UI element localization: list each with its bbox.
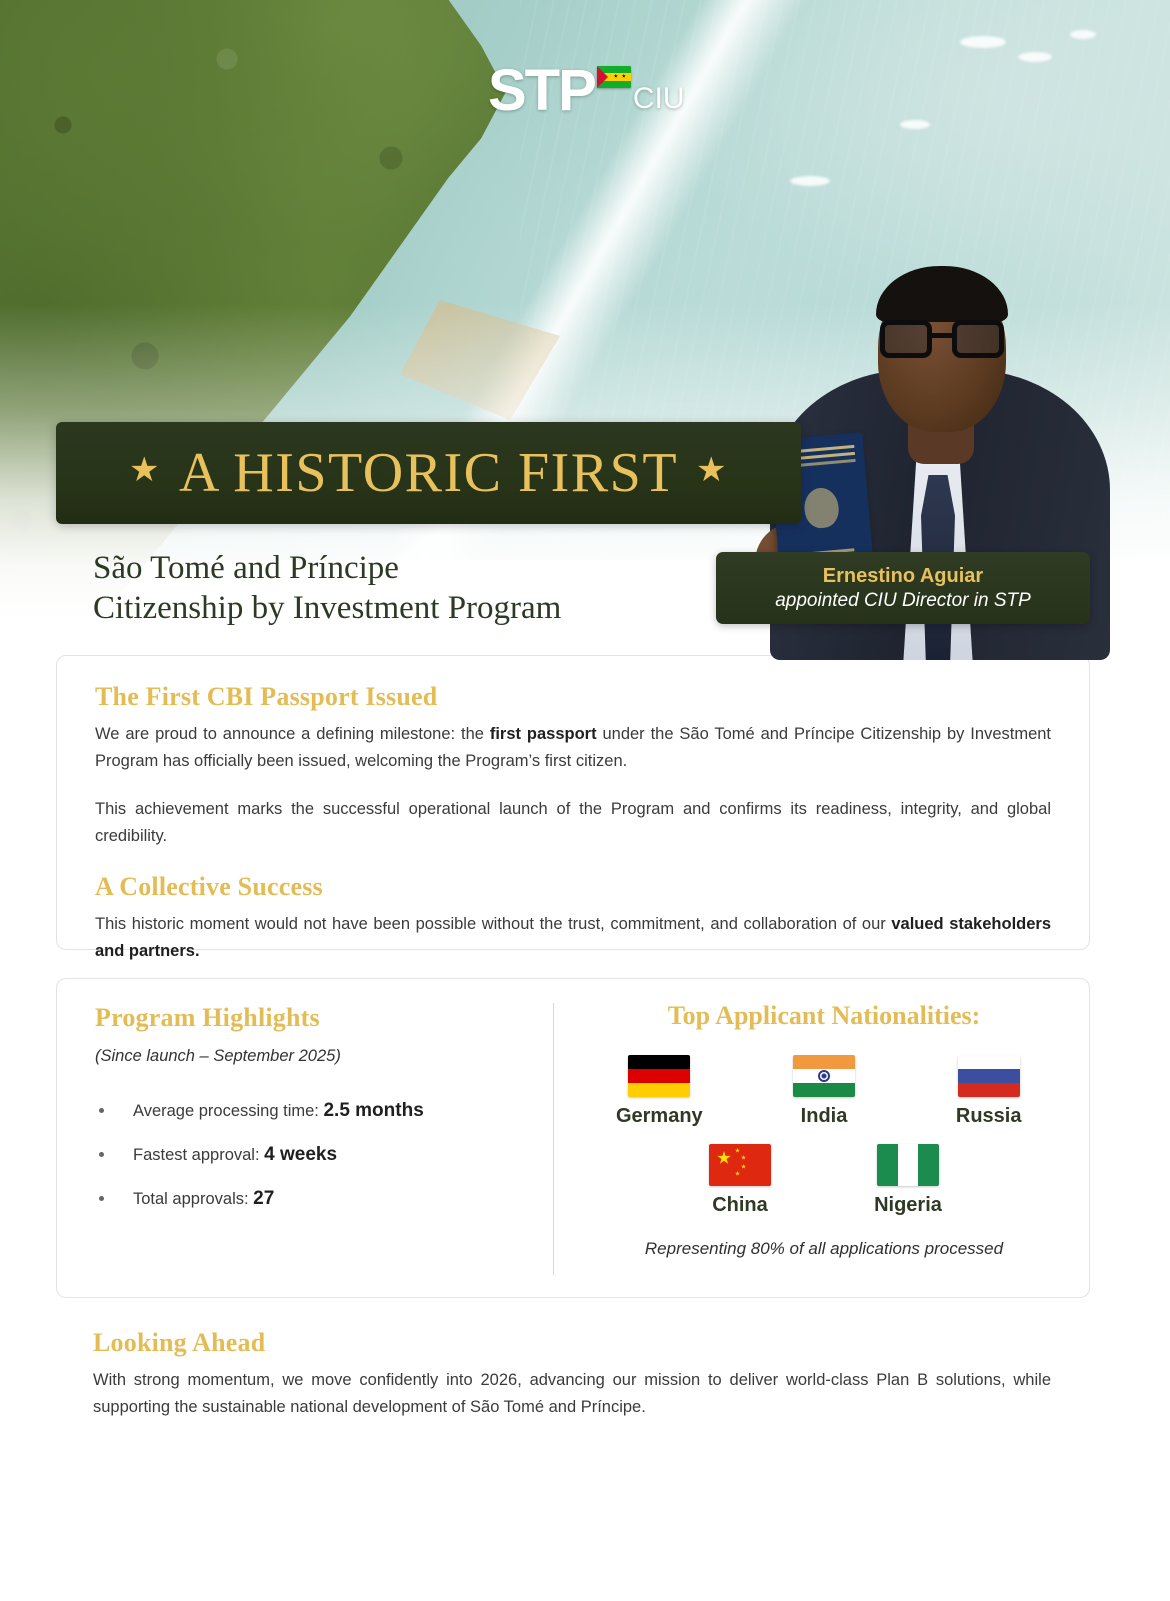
stp-ciu-logo: STP CIU (488, 62, 684, 120)
portrait-hair (876, 266, 1008, 322)
china-small-star-icon (735, 1148, 740, 1153)
highlight-label: Total approvals: (133, 1190, 253, 1208)
flag-band-white (958, 1055, 1020, 1069)
highlight-value: 4 weeks (264, 1144, 337, 1165)
nationality-label: Nigeria (874, 1194, 942, 1217)
glasses-right-lens (952, 320, 1004, 358)
china-flag-icon (709, 1144, 771, 1186)
china-small-star-icon (741, 1155, 746, 1160)
announcement-heading: The First CBI Passport Issued (95, 682, 1051, 712)
program-highlights-panel: Program Highlights (Since launch – Septe… (95, 1003, 555, 1232)
announcement-paragraph-1: We are proud to announce a defining mile… (95, 721, 1051, 774)
glasses-icon (880, 320, 1004, 360)
collective-success-heading: A Collective Success (95, 872, 1051, 902)
flag-band-green (793, 1083, 855, 1097)
nigeria-flag-icon (877, 1144, 939, 1186)
paragraph-1-bold: first passport (490, 725, 597, 743)
nationality-germany: Germany (577, 1055, 742, 1128)
flag-band-saffron (793, 1055, 855, 1069)
sao-tome-and-principe-flag-icon (597, 66, 631, 88)
newsletter-page: STP CIU ★ A HISTORIC FIRST ★ São Tomé an… (0, 0, 1170, 1601)
paragraph-3-part-a: This historic moment would not have been… (95, 915, 891, 933)
subtitle-line-1: São Tomé and Príncipe (93, 548, 713, 588)
russia-flag-icon (958, 1055, 1020, 1097)
nationality-india: India (742, 1055, 907, 1128)
nationality-label: Germany (616, 1105, 703, 1128)
top-nationalities-panel: Top Applicant Nationalities: Germany (577, 1001, 1071, 1259)
bullet-dot-icon (99, 1152, 104, 1157)
looking-ahead-paragraph: With strong momentum, we move confidentl… (93, 1367, 1051, 1420)
announcement-paragraph-2: This achievement marks the successful op… (95, 796, 1051, 849)
looking-ahead-heading: Looking Ahead (93, 1328, 1051, 1358)
nationality-label: China (712, 1194, 768, 1217)
nationality-nigeria: Nigeria (824, 1144, 992, 1217)
india-flag-icon (793, 1055, 855, 1097)
germany-flag-icon (628, 1055, 690, 1097)
paragraph-1-part-a: We are proud to announce a defining mile… (95, 725, 490, 743)
china-big-star-icon (717, 1151, 731, 1165)
flag-band-black (628, 1055, 690, 1069)
since-launch-note: (Since launch – September 2025) (95, 1047, 555, 1066)
director-name: Ernestino Aguiar (823, 564, 983, 589)
nationality-china: China (656, 1144, 824, 1217)
star-right-icon: ★ (696, 454, 728, 488)
flag-band-gold (628, 1083, 690, 1097)
nationality-russia: Russia (906, 1055, 1071, 1128)
director-name-plate: Ernestino Aguiar appointed CIU Director … (716, 552, 1090, 624)
glasses-left-lens (880, 320, 932, 358)
flag-band-red (958, 1083, 1020, 1097)
flag-red-triangle (597, 66, 608, 88)
program-subtitle: São Tomé and Príncipe Citizenship by Inv… (93, 548, 713, 629)
flag-band-green-left (877, 1144, 898, 1186)
list-item: Fastest approval: 4 weeks (95, 1144, 555, 1166)
announcement-paragraph-3: This historic moment would not have been… (95, 911, 1051, 964)
subtitle-line-2: Citizenship by Investment Program (93, 588, 713, 628)
highlights-list: Average processing time: 2.5 months Fast… (95, 1100, 555, 1210)
list-item: Total approvals: 27 (95, 1188, 555, 1210)
logo-sub-wordmark: CIU (633, 82, 685, 116)
flag-band-red (628, 1069, 690, 1083)
looking-ahead-section: Looking Ahead With strong momentum, we m… (93, 1328, 1051, 1420)
china-small-star-icon (735, 1171, 740, 1176)
flag-band-green-right (918, 1144, 939, 1186)
nationalities-note: Representing 80% of all applications pro… (577, 1239, 1071, 1259)
statistics-card: Program Highlights (Since launch – Septe… (56, 978, 1090, 1298)
ashoka-chakra-icon (818, 1070, 830, 1082)
historic-first-banner: ★ A HISTORIC FIRST ★ (56, 422, 801, 524)
china-small-star-icon (741, 1164, 746, 1169)
flag-band-white (898, 1144, 919, 1186)
star-left-icon: ★ (129, 454, 161, 488)
vertical-divider (553, 1003, 554, 1275)
highlight-value: 27 (253, 1188, 274, 1209)
list-item: Average processing time: 2.5 months (95, 1100, 555, 1122)
announcement-card: The First CBI Passport Issued We are pro… (56, 655, 1090, 950)
bullet-dot-icon (99, 1196, 104, 1201)
flag-row-2: China Nigeria (577, 1144, 1071, 1217)
nationality-label: Russia (956, 1105, 1022, 1128)
banner-text-group: ★ A HISTORIC FIRST ★ (129, 441, 728, 505)
program-highlights-heading: Program Highlights (95, 1003, 555, 1033)
banner-title: A HISTORIC FIRST (179, 441, 678, 505)
glasses-bridge (932, 333, 954, 338)
nationalities-heading: Top Applicant Nationalities: (577, 1001, 1071, 1031)
highlight-value: 2.5 months (323, 1100, 423, 1121)
flag-row-1: Germany India (577, 1055, 1071, 1128)
logo-wordmark: STP (488, 62, 595, 120)
announcement-card-inner: The First CBI Passport Issued We are pro… (57, 656, 1089, 964)
director-role: appointed CIU Director in STP (775, 589, 1031, 613)
nationality-label: India (801, 1105, 848, 1128)
flag-band-blue (958, 1069, 1020, 1083)
highlight-label: Fastest approval: (133, 1146, 264, 1164)
bullet-dot-icon (99, 1108, 104, 1113)
highlight-label: Average processing time: (133, 1102, 323, 1120)
passport-crest-icon (803, 487, 840, 530)
